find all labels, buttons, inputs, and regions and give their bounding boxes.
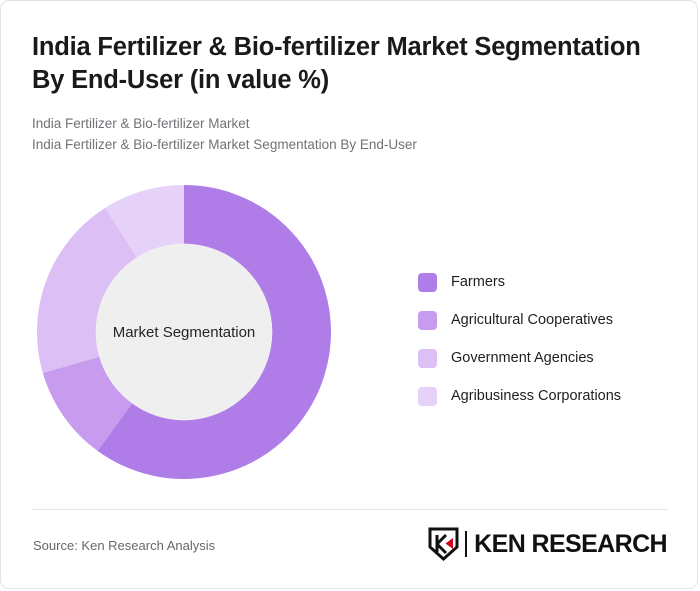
legend-item[interactable]: Farmers <box>418 263 680 301</box>
legend-label: Agricultural Cooperatives <box>451 312 613 328</box>
legend-item[interactable]: Agribusiness Corporations <box>418 377 680 415</box>
legend-item[interactable]: Agricultural Cooperatives <box>418 301 680 339</box>
legend-label: Agribusiness Corporations <box>451 388 621 404</box>
ken-research-logo: KEN RESEARCH <box>428 525 667 563</box>
ken-shield-icon <box>428 527 459 561</box>
logo-divider <box>465 531 467 557</box>
donut-hole <box>96 244 272 420</box>
legend-label: Farmers <box>451 274 505 290</box>
chart-card: India Fertilizer & Bio-fertilizer Market… <box>0 0 698 589</box>
legend-swatch <box>418 349 437 368</box>
chart-legend: FarmersAgricultural CooperativesGovernme… <box>418 263 680 415</box>
footer-divider <box>32 509 668 510</box>
source-note: Source: Ken Research Analysis <box>33 538 215 553</box>
legend-swatch <box>418 273 437 292</box>
legend-label: Government Agencies <box>451 350 594 366</box>
donut-chart: Market Segmentation <box>1 1 401 521</box>
legend-item[interactable]: Government Agencies <box>418 339 680 377</box>
donut-chart-svg <box>37 185 331 479</box>
legend-swatch <box>418 387 437 406</box>
legend-swatch <box>418 311 437 330</box>
logo-wordmark: KEN RESEARCH <box>474 530 667 559</box>
